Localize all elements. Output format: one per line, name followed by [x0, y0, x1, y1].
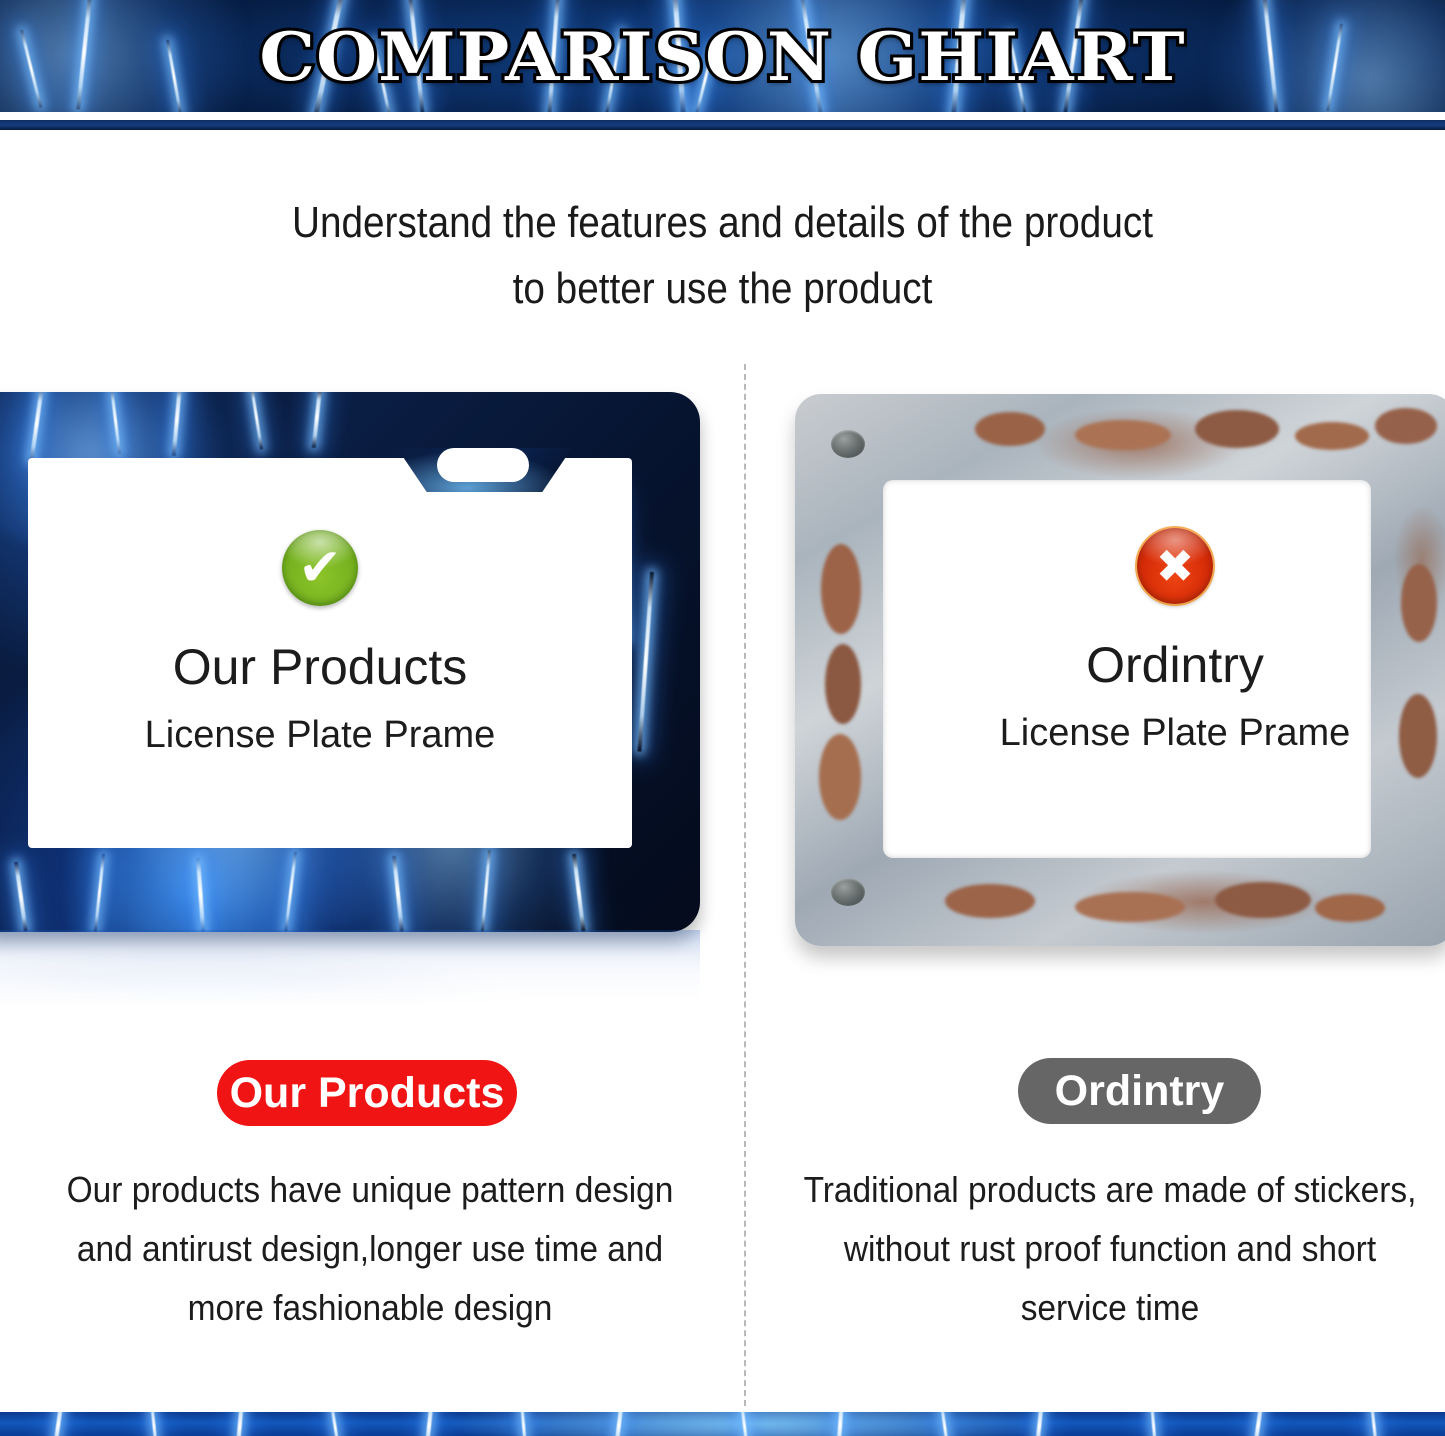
- frame-mount-slot: [437, 448, 529, 482]
- rust-spot: [1075, 420, 1171, 450]
- lightning-bolt-icon: [1370, 1412, 1378, 1436]
- banner-white-gap: [0, 112, 1445, 120]
- lightning-bolt-icon: [235, 1412, 244, 1436]
- banner-white-gap-lower: [0, 130, 1445, 140]
- x-glyph: ✖: [1137, 528, 1213, 604]
- banner-accent-strip: [0, 120, 1445, 130]
- screw-hole-icon: [831, 430, 865, 458]
- lightning-bolt-icon: [424, 1412, 434, 1436]
- lightning-bolt-icon: [150, 1412, 158, 1436]
- left-panel-content: ✔ Our Products License Plate Prame: [60, 530, 580, 758]
- top-banner: COMPARISON GHIART: [0, 0, 1445, 112]
- screw-hole-icon: [831, 878, 865, 906]
- check-circle-icon: ✔: [282, 530, 358, 606]
- lightning-bolt-icon: [330, 1412, 340, 1436]
- bottom-banner: [0, 1412, 1445, 1436]
- right-description: Traditional products are made of sticker…: [803, 1160, 1417, 1337]
- rust-spot: [945, 884, 1035, 918]
- lightning-bolt-icon: [1034, 1412, 1044, 1436]
- lightning-bolt-icon: [836, 1412, 844, 1436]
- subtitle-line-1: Understand the features and details of t…: [292, 198, 1153, 247]
- lightning-bolt-icon: [52, 1412, 64, 1436]
- rust-spot: [821, 544, 861, 634]
- status-badge-ordinary: Ordintry: [1018, 1058, 1261, 1124]
- left-product-reflection: [0, 930, 700, 1006]
- lightning-bolt-icon: [520, 1412, 527, 1436]
- rust-spot: [975, 412, 1045, 446]
- rust-spot: [1375, 408, 1437, 444]
- left-panel-title: Our Products: [60, 638, 580, 696]
- subtitle-line-2: to better use the product: [87, 256, 1359, 322]
- rust-spot: [1315, 894, 1385, 922]
- lightning-bolt-icon: [312, 392, 322, 448]
- lightning-bolt-icon: [614, 1412, 624, 1436]
- lightning-bolt-icon: [250, 392, 263, 449]
- right-panel-content: ✖ Ordintry License Plate Prame: [920, 528, 1430, 756]
- status-badge-our-products: Our Products: [217, 1060, 517, 1126]
- lightning-bolt-icon: [940, 1412, 950, 1436]
- lightning-bolt-icon: [1252, 1412, 1264, 1436]
- lightning-bolt-icon: [637, 572, 654, 752]
- subtitle: Understand the features and details of t…: [87, 190, 1359, 322]
- check-glyph: ✔: [282, 530, 358, 606]
- rust-spot: [1295, 422, 1369, 450]
- lightning-bolt-icon: [14, 862, 28, 932]
- right-panel-subtitle: License Plate Prame: [920, 710, 1430, 756]
- left-panel-subtitle: License Plate Prame: [60, 712, 580, 758]
- rust-spot: [1215, 882, 1311, 918]
- rust-spot: [825, 644, 861, 724]
- page-title: COMPARISON GHIART: [0, 18, 1445, 96]
- lightning-bolt-icon: [740, 1412, 749, 1436]
- column-divider: [744, 364, 746, 1406]
- rust-spot: [819, 734, 861, 820]
- left-description: Our products have unique pattern design …: [54, 1160, 686, 1337]
- x-circle-icon: ✖: [1137, 528, 1213, 604]
- rust-spot: [1075, 892, 1185, 922]
- lightning-bolt-icon: [1150, 1412, 1157, 1436]
- right-panel-title: Ordintry: [920, 636, 1430, 694]
- rust-spot: [1195, 410, 1279, 448]
